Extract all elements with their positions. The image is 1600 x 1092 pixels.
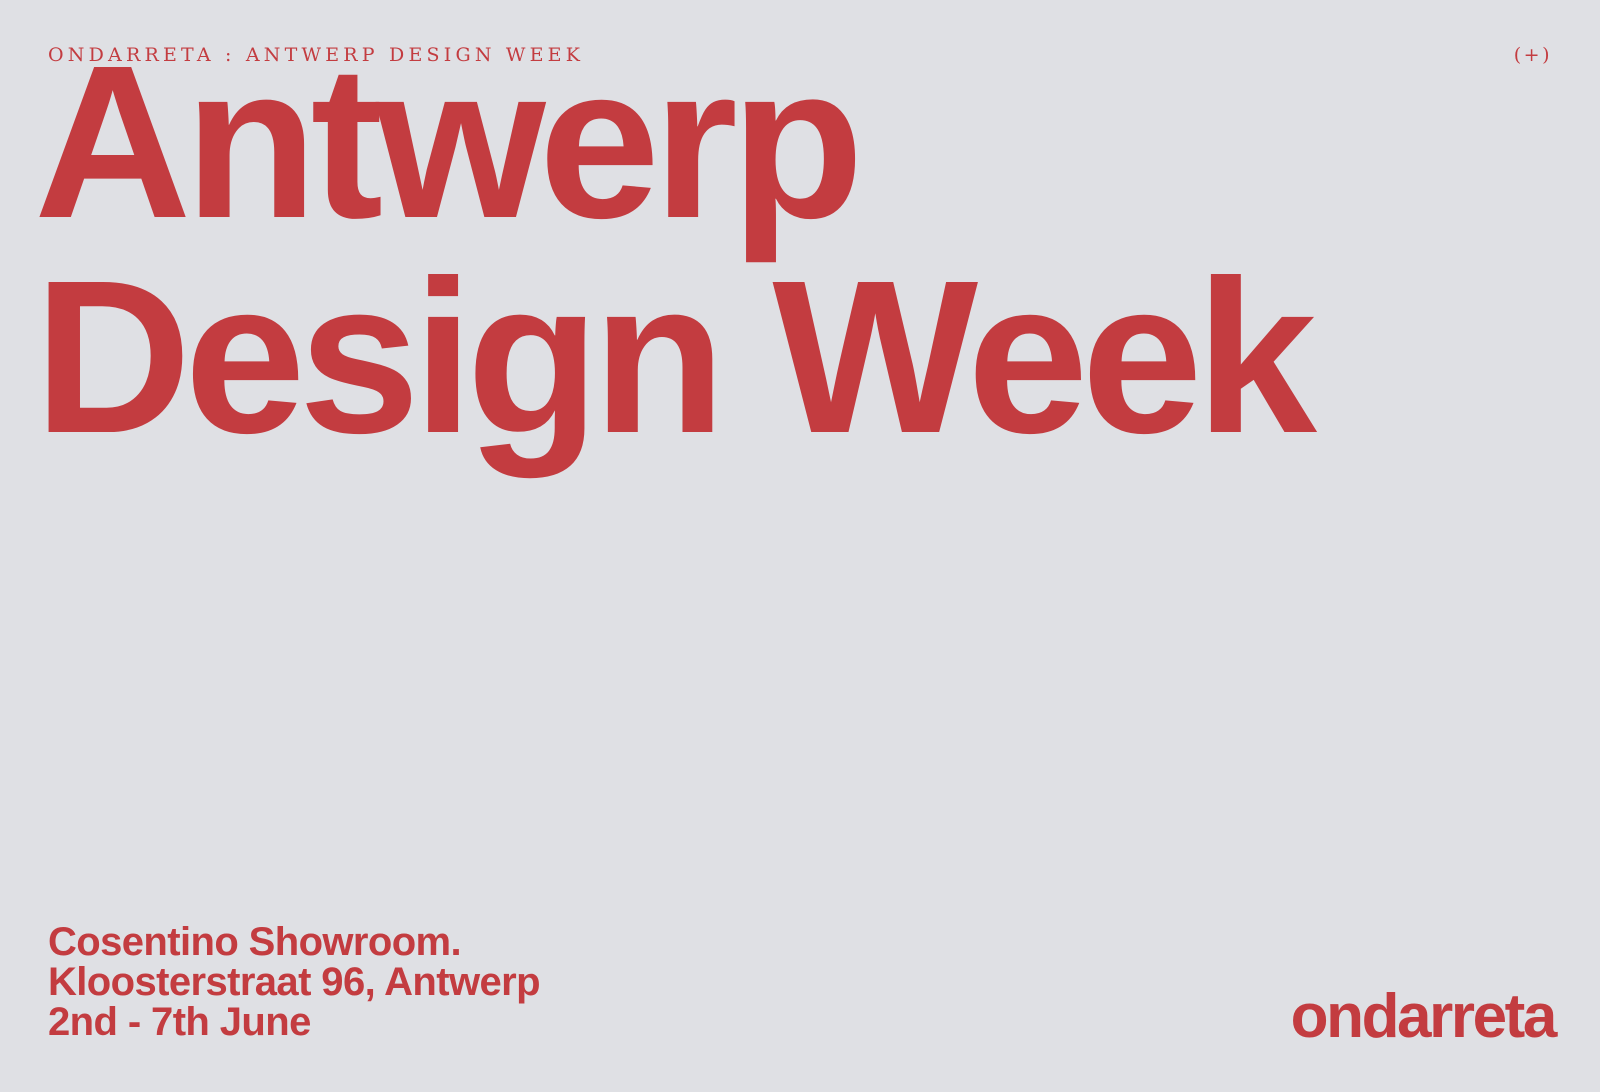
event-dates: 2nd - 7th June [48, 1002, 540, 1042]
venue-address: Kloosterstraat 96, Antwerp [48, 962, 540, 1002]
ondarreta-logo[interactable]: ondarreta [1291, 986, 1555, 1048]
headline-line-1: Antwerp [34, 36, 1534, 251]
headline-line-2: Design Week [34, 251, 1534, 466]
event-details: Cosentino Showroom. Kloosterstraat 96, A… [48, 922, 540, 1042]
page-title: Antwerp Design Week [34, 36, 1534, 465]
poster-canvas: ONDARRETA : ANTWERP DESIGN WEEK (+) Antw… [0, 0, 1600, 1092]
venue-name: Cosentino Showroom. [48, 922, 540, 962]
